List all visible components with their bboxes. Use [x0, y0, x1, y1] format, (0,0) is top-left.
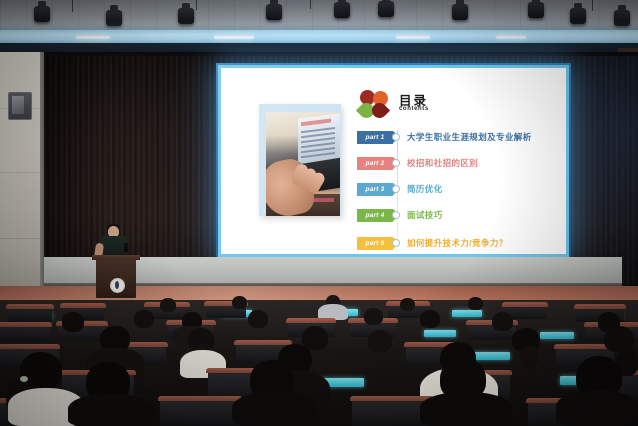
light-wire [72, 0, 73, 12]
ceiling-tube-light [214, 36, 254, 39]
laptop-photo [259, 104, 341, 216]
audience-person [232, 392, 318, 426]
podium-microphone [124, 243, 128, 252]
light-wire [196, 0, 197, 10]
ceiling-tube-light [396, 36, 430, 39]
seat [8, 306, 52, 322]
podium-emblem [110, 278, 125, 293]
agenda-item-text: 如何提升技术力/竞争力？ [407, 237, 508, 249]
stage-light [334, 2, 350, 18]
audience-head [62, 312, 84, 332]
stage-light [528, 2, 544, 18]
laptop-photo-image [266, 112, 340, 216]
audience-head [468, 297, 483, 310]
part-tag-label: part 3 [357, 183, 393, 196]
part-tag-label: part 4 [357, 209, 393, 222]
agenda-bullet-dot [392, 159, 400, 167]
audience-head [160, 298, 176, 312]
light-wire [310, 0, 311, 9]
stage-light [570, 8, 586, 24]
stage-light [178, 8, 194, 24]
agenda-item-text: 校招和社招的区别 [407, 157, 478, 169]
ceiling-tube-light [76, 36, 110, 39]
agenda-item-text: 大学生职业生涯规划及专业解析 [407, 131, 532, 143]
desk-monitor [470, 352, 510, 360]
slide-title-en: contents [399, 106, 429, 112]
agenda-bullet-dot [392, 239, 400, 247]
audience-head [364, 308, 383, 325]
stage-light [378, 1, 394, 17]
four-petal-flower-logo [359, 90, 391, 120]
stage-light [34, 6, 50, 22]
stage-light [106, 10, 122, 26]
photo-laptop-screen [298, 113, 340, 164]
desk-monitor [540, 332, 574, 339]
agenda-item-text: 面试技巧 [407, 209, 443, 221]
stage-light [266, 4, 282, 20]
audience-head [492, 312, 513, 331]
ceiling-tube-light [496, 36, 526, 39]
agenda-bullet-dot [392, 133, 400, 141]
auditorium-photo: 目录 contents part 1 大学生职业生涯规划及专业解析 part 2… [0, 0, 638, 426]
audience-head [368, 330, 392, 352]
agenda-bullet-dot [392, 211, 400, 219]
agenda-bullet-dot [392, 185, 400, 193]
desk-monitor [424, 330, 456, 337]
desk-monitor [452, 310, 482, 317]
audience-person [556, 390, 638, 426]
light-wire [592, 0, 593, 11]
part-tag-label: part 1 [357, 131, 393, 144]
stage-light [452, 4, 468, 20]
audience-head [420, 310, 440, 328]
seat [160, 398, 240, 426]
part-tag-label: part 5 [357, 237, 393, 250]
left-wall [0, 52, 42, 302]
audience-head [232, 296, 247, 309]
wall-control-box [8, 92, 32, 120]
audience-person [420, 392, 512, 426]
audience-ponytail [520, 346, 538, 370]
audience-head [134, 310, 154, 328]
audience-head [248, 310, 268, 328]
agenda-item-text: 简历优化 [407, 183, 443, 195]
hair-scrunchie [20, 376, 28, 382]
audience-person [68, 394, 154, 426]
part-tag-label: part 2 [357, 157, 393, 170]
stage-light [614, 10, 630, 26]
seat [0, 324, 50, 342]
presentation-slide: 目录 contents part 1 大学生职业生涯规划及专业解析 part 2… [221, 68, 566, 254]
audience-head [400, 298, 415, 311]
